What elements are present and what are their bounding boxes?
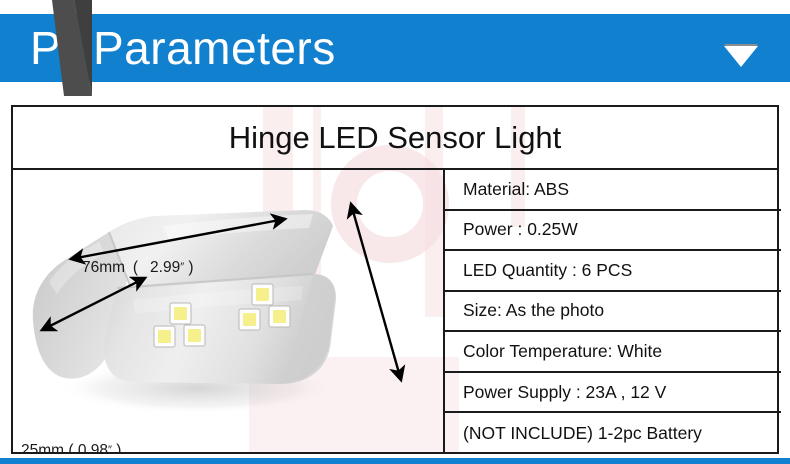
table-row: Material: ABS [445,170,781,211]
product-photo [13,170,443,454]
banner-title: Parameters [93,16,336,80]
page-title: Hinge LED Sensor Light [13,107,777,170]
dimension-arrow-height [351,204,401,380]
parameters-content-box: Hinge LED Sensor Light [11,105,779,454]
table-row: Power Supply : 23A , 12 V [445,373,781,414]
specification-table: Material: ABS Power : 0.25W LED Quantity… [443,170,781,454]
chevron-down-icon[interactable] [724,46,758,67]
table-row: Size: As the photo [445,292,781,333]
banner-initial-letter: P [30,22,61,74]
table-row: (NOT INCLUDE) 1-2pc Battery [445,413,781,454]
dimension-label-width: 76mm ( 2.99″ ) [82,259,194,277]
bottom-accent-strip [0,458,790,464]
parameters-header-banner: P Parameters [0,14,790,82]
table-row: Power : 0.25W [445,211,781,252]
table-row: Color Temperature: White [445,332,781,373]
dimension-label-depth: 25mm ( 0.98″ ) [21,442,121,454]
product-photo-panel: 76mm ( 2.99″ ) 25mm ( 0.98″ ) 42mm ( 1.6… [13,170,443,454]
table-row: LED Quantity : 6 PCS [445,251,781,292]
